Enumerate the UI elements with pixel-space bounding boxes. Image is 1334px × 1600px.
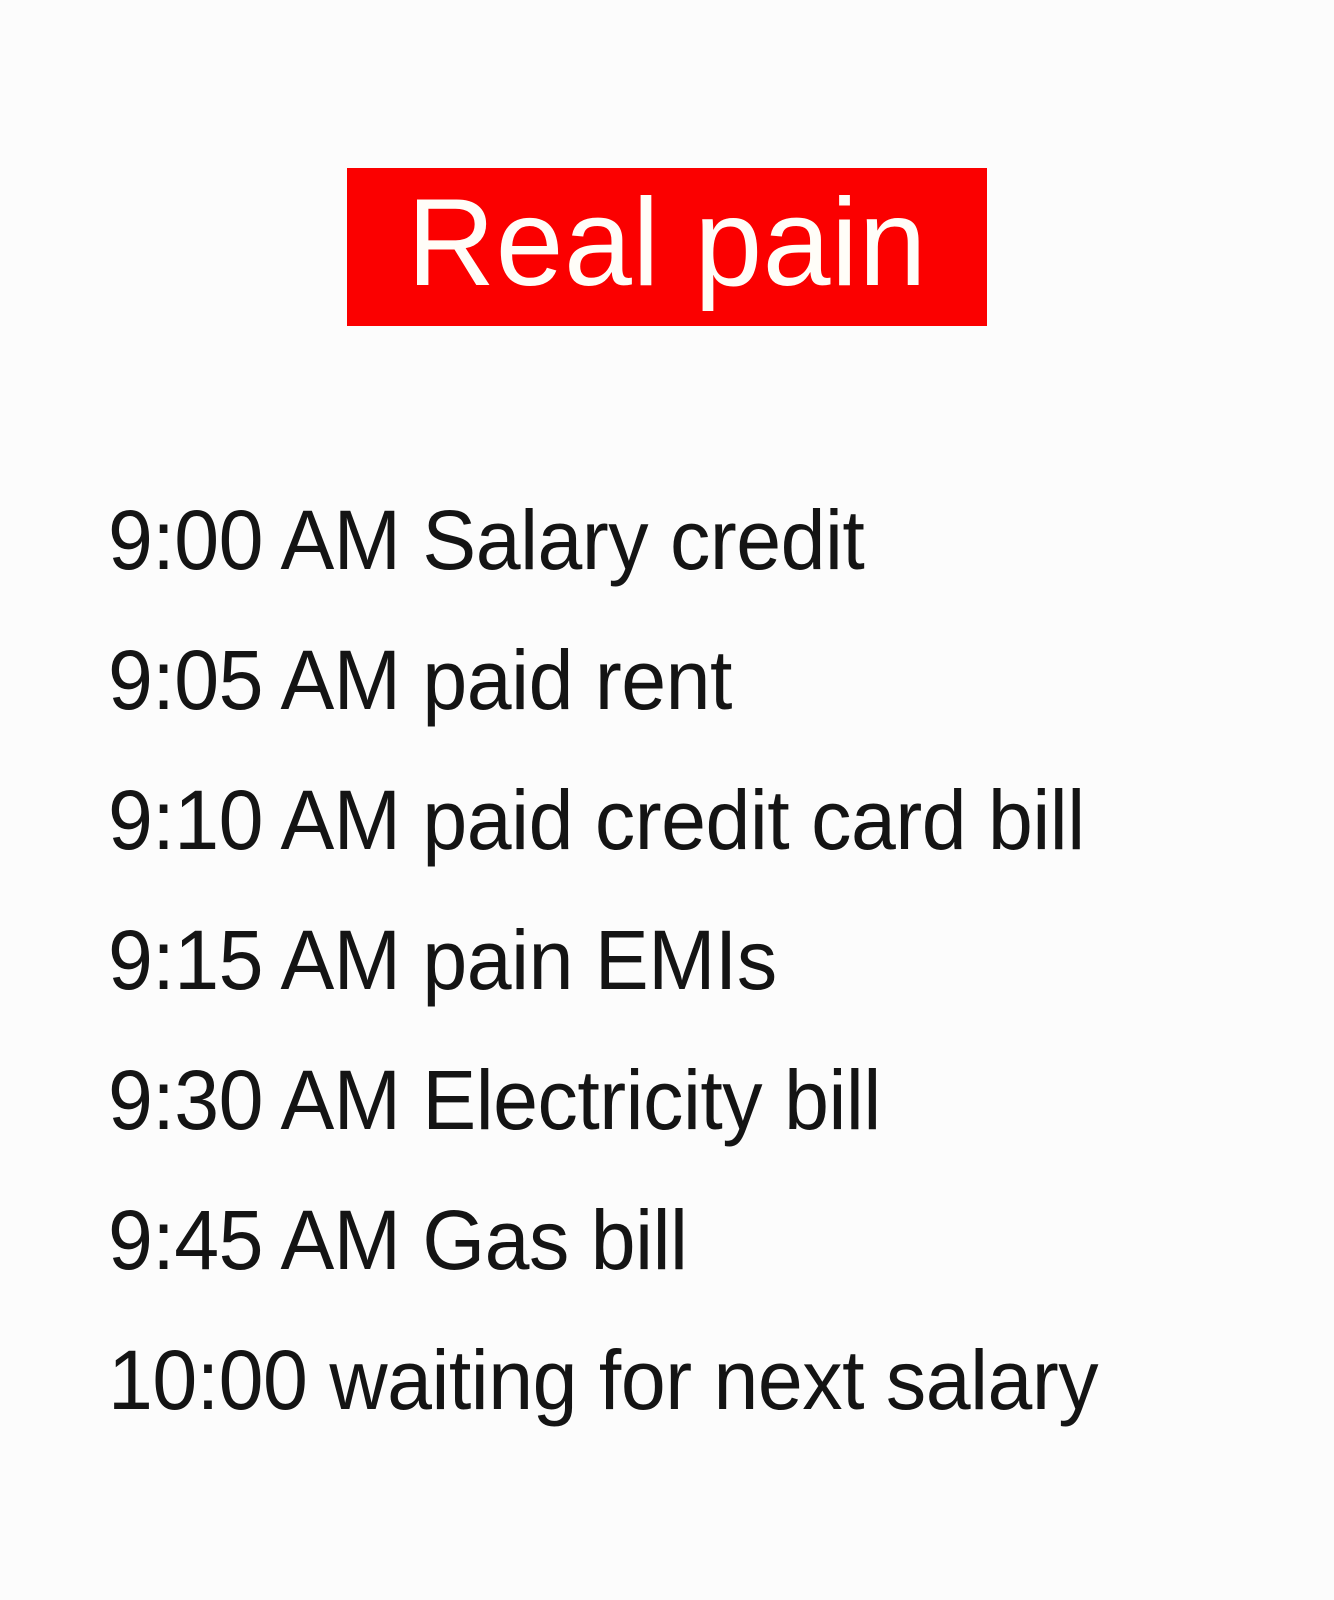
list-item: 9:00 AM Salary credit xyxy=(108,470,1222,610)
poster-title: Real pain xyxy=(407,180,927,304)
list-item: 9:30 AM Electricity bill xyxy=(108,1030,1222,1170)
list-item: 9:05 AM paid rent xyxy=(108,610,1222,750)
meme-poster: Real pain 9:00 AM Salary credit 9:05 AM … xyxy=(0,0,1334,1600)
schedule-list: 9:00 AM Salary credit 9:05 AM paid rent … xyxy=(108,470,1268,1450)
title-banner-wrap: Real pain xyxy=(0,168,1334,326)
list-item: 9:15 AM pain EMIs xyxy=(108,890,1222,1030)
list-item: 9:45 AM Gas bill xyxy=(108,1170,1222,1310)
list-item: 9:10 AM paid credit card bill xyxy=(108,750,1222,890)
title-banner: Real pain xyxy=(347,168,987,326)
list-item: 10:00 waiting for next salary xyxy=(108,1310,1222,1450)
